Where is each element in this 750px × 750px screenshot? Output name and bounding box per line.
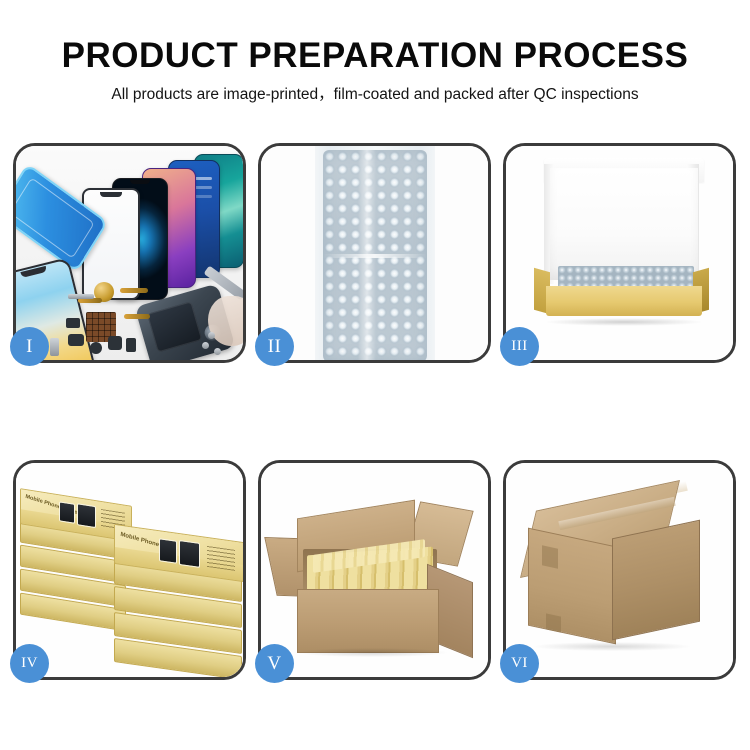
step-panel-vi: VI	[503, 460, 736, 680]
metal-bracket-part	[68, 294, 94, 299]
step-badge-iii: III	[500, 327, 539, 366]
carton-front-panel	[297, 589, 439, 653]
connector-part	[66, 318, 80, 328]
step-image-i	[16, 146, 243, 360]
box-window-screen	[59, 501, 75, 524]
sim-tray-part	[50, 338, 59, 356]
notch-icon	[130, 180, 150, 184]
step-badge-v: V	[255, 644, 294, 683]
step-panel-iv: Mobile Phone Spare Parts Mobile Phone Sp…	[13, 460, 246, 680]
step-image-vi	[506, 463, 733, 677]
drop-shadow	[544, 318, 704, 326]
page-title: PRODUCT PREPARATION PROCESS	[0, 0, 750, 76]
notch-icon	[20, 266, 47, 278]
carton-right-face	[612, 520, 700, 641]
scene-box-stack: Mobile Phone Spare Parts Mobile Phone Sp…	[16, 463, 243, 677]
step-panel-v: V	[258, 460, 491, 680]
screw-part	[208, 332, 215, 339]
carton-hand-tab	[542, 545, 558, 568]
box-front-panel	[546, 286, 702, 316]
drop-shadow	[297, 648, 447, 657]
step-image-iv: Mobile Phone Spare Parts Mobile Phone Sp…	[16, 463, 243, 677]
drop-shadow	[534, 642, 690, 651]
step-panel-iii: III	[503, 143, 736, 363]
step-image-v	[261, 463, 488, 677]
carton-hand-tab	[546, 613, 561, 632]
scene-inner-box	[506, 146, 733, 360]
box-spec-lines	[207, 546, 235, 571]
white-foam-insert	[550, 168, 698, 280]
box-stack: Mobile Phone Spare Parts Mobile Phone Sp…	[18, 477, 243, 677]
speaker-part	[108, 336, 122, 350]
step-badge-i: I	[10, 327, 49, 366]
box-window-screen	[159, 538, 177, 564]
screw-part	[214, 348, 221, 355]
step-image-iii	[506, 146, 733, 360]
notch-icon	[100, 192, 122, 197]
step-image-ii	[261, 146, 488, 360]
box-window-screen	[77, 503, 96, 528]
page-subtitle: All products are image-printed，film-coat…	[0, 76, 750, 105]
step-badge-iv: IV	[10, 644, 49, 683]
scene-spare-parts	[16, 146, 243, 360]
flex-cable-part	[124, 314, 150, 319]
step-badge-ii: II	[255, 327, 294, 366]
product-preparation-infographic: PRODUCT PREPARATION PROCESS All products…	[0, 0, 750, 750]
camera-lens-part	[90, 342, 102, 354]
step-badge-vi: VI	[500, 644, 539, 683]
box-window-screen	[179, 540, 200, 568]
screw-part	[202, 342, 209, 349]
wrap-seam	[323, 254, 427, 258]
header: PRODUCT PREPARATION PROCESS All products…	[0, 0, 750, 105]
vibrator-part	[68, 334, 84, 346]
scene-sealed-carton	[506, 463, 733, 677]
scene-bubble-wrap	[261, 146, 488, 360]
process-steps-grid: I II	[13, 143, 737, 680]
step-panel-i: I	[13, 143, 246, 363]
button-part	[126, 338, 136, 352]
flex-cable-part	[120, 288, 148, 293]
step-panel-ii: II	[258, 143, 491, 363]
scene-carton-filling	[261, 463, 488, 677]
